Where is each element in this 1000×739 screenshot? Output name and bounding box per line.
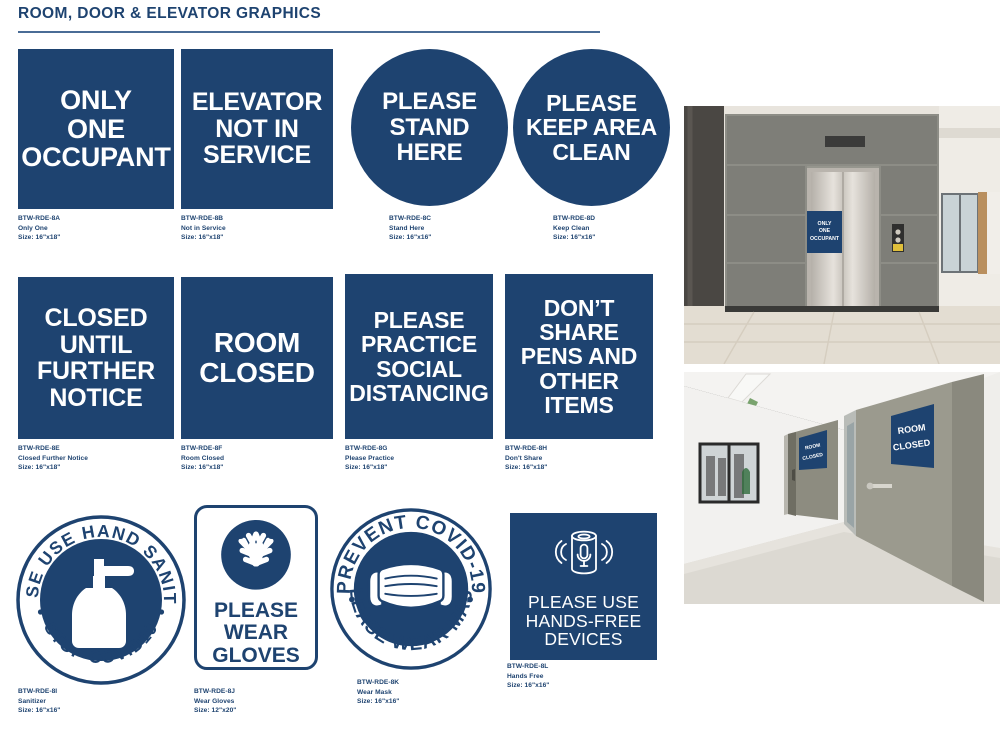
page-title: ROOM, DOOR & ELEVATOR GRAPHICS [18, 5, 321, 23]
caption-code: BTW-RDE-8G [345, 444, 394, 454]
sign-graphic-only-one-occupant: ONLY ONE OCCUPANT [18, 49, 174, 209]
caption-code: BTW-RDE-8C [389, 214, 431, 224]
sign-graphic-please-practice-social-distancing: PLEASE PRACTICE SOCIAL DISTANCING [345, 274, 493, 439]
title-divider [18, 31, 600, 33]
sign-line: GLOVES [212, 645, 300, 667]
sign-line: CLEAN [552, 140, 630, 164]
sign-line: DISTANCING [349, 381, 488, 405]
caption-name: Sanitizer [18, 697, 60, 707]
sign-line: ITEMS [544, 393, 613, 417]
sign-caption-please-practice-social-distancing: BTW-RDE-8G Please Practice Size: 16"x18" [345, 444, 394, 473]
sign-graphic-elevator-not-in-service: ELEVATOR NOT IN SERVICE [181, 49, 333, 209]
sign-line: HERE [397, 140, 463, 165]
sign-caption-closed-until-further-notice: BTW-RDE-8E Closed Further Notice Size: 1… [18, 444, 88, 473]
elevator-lobby-photo: ONLY ONE OCCUPANT [684, 106, 1000, 364]
sign-graphic-dont-share-pens: DON’T SHARE PENS AND OTHER ITEMS [505, 274, 653, 439]
caption-size: Size: 16"x16" [389, 233, 431, 243]
sign-line: UNTIL [60, 332, 133, 359]
caption-code: BTW-RDE-8I [18, 687, 60, 697]
sign-line: SOCIAL [376, 357, 462, 381]
caption-size: Size: 16"x18" [505, 463, 547, 473]
photo-sign-only-one-occupant: ONLY ONE OCCUPANT [807, 211, 842, 253]
caption-size: Size: 16"x18" [181, 463, 224, 473]
caption-size: Size: 16"x16" [357, 697, 399, 707]
hand-sanitizer-badge-graphic: PLEASE USE HAND SANITIZER STOP COVID19 [16, 515, 186, 685]
sign-graphic-room-closed: ROOM CLOSED [181, 277, 333, 439]
sign-line: PLEASE [214, 600, 298, 622]
sign-item-room-closed[interactable]: ROOM CLOSED [181, 277, 333, 439]
caption-name: Keep Clean [553, 224, 595, 234]
corridor-illustration: ROOM CLOSED ROOM CLOSED [684, 372, 1000, 604]
sign-line: HANDS-FREE [526, 612, 642, 631]
caption-name: Stand Here [389, 224, 431, 234]
caption-code: BTW-RDE-8E [18, 444, 88, 454]
gloves-icon [219, 519, 293, 591]
photo-sign-line: OCCUPANT [810, 236, 839, 243]
sign-item-hands-free-devices[interactable]: PLEASE USE HANDS-FREE DEVICES [510, 513, 657, 660]
sign-caption-hand-sanitizer: BTW-RDE-8I Sanitizer Size: 16"x16" [18, 687, 60, 716]
sign-caption-please-wear-gloves: BTW-RDE-8J Wear Gloves Size: 12"x20" [194, 687, 236, 716]
caption-name: Please Practice [345, 454, 394, 464]
sign-line: ELEVATOR [192, 89, 322, 116]
caption-name: Don't Share [505, 454, 547, 464]
sign-graphic-please-stand-here: PLEASE STAND HERE [351, 49, 508, 206]
sign-line: OCCUPANT [21, 143, 170, 172]
sign-caption-hands-free-devices: BTW-RDE-8L Hands Free Size: 16"x16" [507, 662, 549, 691]
sign-graphic-please-wear-gloves: PLEASE WEAR GLOVES [194, 505, 318, 670]
caption-size: Size: 16"x16" [18, 706, 60, 716]
caption-size: Size: 16"x18" [18, 463, 88, 473]
sign-line: DON’T [544, 296, 615, 320]
caption-size: Size: 16"x16" [553, 233, 595, 243]
sign-line: ROOM [214, 328, 300, 358]
sign-line: SERVICE [203, 142, 311, 169]
sign-item-closed-until-further-notice[interactable]: CLOSED UNTIL FURTHER NOTICE [18, 277, 174, 439]
caption-name: Closed Further Notice [18, 454, 88, 464]
sign-line: CLOSED [199, 358, 314, 388]
sign-caption-please-keep-area-clean: BTW-RDE-8D Keep Clean Size: 16"x16" [553, 214, 595, 243]
sign-graphic-closed-until-further-notice: CLOSED UNTIL FURTHER NOTICE [18, 277, 174, 439]
sign-line: WEAR [224, 622, 288, 644]
sign-line: ONE [67, 115, 125, 144]
sign-graphic-please-keep-area-clean: PLEASE KEEP AREA CLEAN [513, 49, 670, 206]
sign-line: SHARE [539, 320, 619, 344]
sign-line: FURTHER [37, 358, 155, 385]
sign-item-please-wear-gloves[interactable]: PLEASE WEAR GLOVES [194, 505, 318, 670]
sign-item-please-practice-social-distancing[interactable]: PLEASE PRACTICE SOCIAL DISTANCING [345, 274, 493, 439]
sign-graphic-hands-free-devices: PLEASE USE HANDS-FREE DEVICES [510, 513, 657, 660]
sign-line: NOTICE [49, 385, 142, 412]
caption-name: Hands Free [507, 672, 549, 682]
corridor-doors-photo: ROOM CLOSED ROOM CLOSED [684, 372, 1000, 604]
caption-name: Wear Mask [357, 688, 399, 698]
caption-size: Size: 16"x18" [345, 463, 394, 473]
sign-item-please-stand-here[interactable]: PLEASE STAND HERE [351, 49, 508, 206]
sign-line: PLEASE [546, 91, 637, 115]
caption-code: BTW-RDE-8L [507, 662, 549, 672]
sign-line: PRACTICE [361, 332, 477, 356]
caption-code: BTW-RDE-8K [357, 678, 399, 688]
photo-sign-line: ONE [819, 228, 830, 235]
caption-code: BTW-RDE-8A [18, 214, 60, 224]
caption-code: BTW-RDE-8B [181, 214, 226, 224]
smart-speaker-microphone-icon [553, 524, 615, 586]
wear-mask-badge-graphic: PREVENT COVID-19 PLEASE WEAR MASK [330, 508, 492, 670]
sign-line: STAND [390, 115, 470, 140]
sign-item-dont-share-pens[interactable]: DON’T SHARE PENS AND OTHER ITEMS [505, 274, 653, 439]
caption-name: Wear Gloves [194, 697, 236, 707]
caption-code: BTW-RDE-8D [553, 214, 595, 224]
caption-code: BTW-RDE-8J [194, 687, 236, 697]
caption-name: Room Closed [181, 454, 224, 464]
sign-line: PLEASE [382, 89, 477, 114]
sign-line: CLOSED [45, 305, 148, 332]
signage-catalog-page: ROOM, DOOR & ELEVATOR GRAPHICS ONLY ONE … [0, 0, 1000, 739]
sign-caption-only-one-occupant: BTW-RDE-8A Only One Size: 16"x18" [18, 214, 60, 243]
sign-item-please-wear-mask[interactable]: PREVENT COVID-19 PLEASE WEAR MASK [330, 508, 492, 675]
sign-item-hand-sanitizer[interactable]: PLEASE USE HAND SANITIZER STOP COVID19 [16, 515, 186, 690]
caption-size: Size: 12"x20" [194, 706, 236, 716]
sign-item-only-one-occupant[interactable]: ONLY ONE OCCUPANT [18, 49, 174, 209]
sign-line: PENS AND [521, 344, 637, 368]
caption-name: Only One [18, 224, 60, 234]
caption-code: BTW-RDE-8H [505, 444, 547, 454]
sign-line: PLEASE USE [528, 593, 639, 612]
sign-caption-room-closed: BTW-RDE-8F Room Closed Size: 16"x18" [181, 444, 224, 473]
caption-size: Size: 16"x18" [181, 233, 226, 243]
sign-caption-elevator-not-in-service: BTW-RDE-8B Not in Service Size: 16"x18" [181, 214, 226, 243]
sign-caption-please-wear-mask: BTW-RDE-8K Wear Mask Size: 16"x16" [357, 678, 399, 707]
caption-name: Not in Service [181, 224, 226, 234]
sign-item-elevator-not-in-service[interactable]: ELEVATOR NOT IN SERVICE [181, 49, 333, 209]
elevator-lobby-illustration [684, 106, 1000, 364]
sign-line: PLEASE [374, 308, 465, 332]
sign-line: NOT IN [215, 116, 299, 143]
sign-line: KEEP AREA [526, 115, 657, 139]
sign-line: OTHER [539, 369, 619, 393]
caption-size: Size: 16"x16" [507, 681, 549, 691]
sign-caption-dont-share-pens: BTW-RDE-8H Don't Share Size: 16"x18" [505, 444, 547, 473]
sign-item-please-keep-area-clean[interactable]: PLEASE KEEP AREA CLEAN [513, 49, 670, 206]
sign-line: ONLY [60, 86, 132, 115]
photo-sign-line: ONLY [818, 221, 832, 228]
caption-code: BTW-RDE-8F [181, 444, 224, 454]
sign-line: DEVICES [544, 630, 622, 649]
sign-caption-please-stand-here: BTW-RDE-8C Stand Here Size: 16"x16" [389, 214, 431, 243]
caption-size: Size: 16"x18" [18, 233, 60, 243]
face-mask-icon [369, 564, 453, 608]
